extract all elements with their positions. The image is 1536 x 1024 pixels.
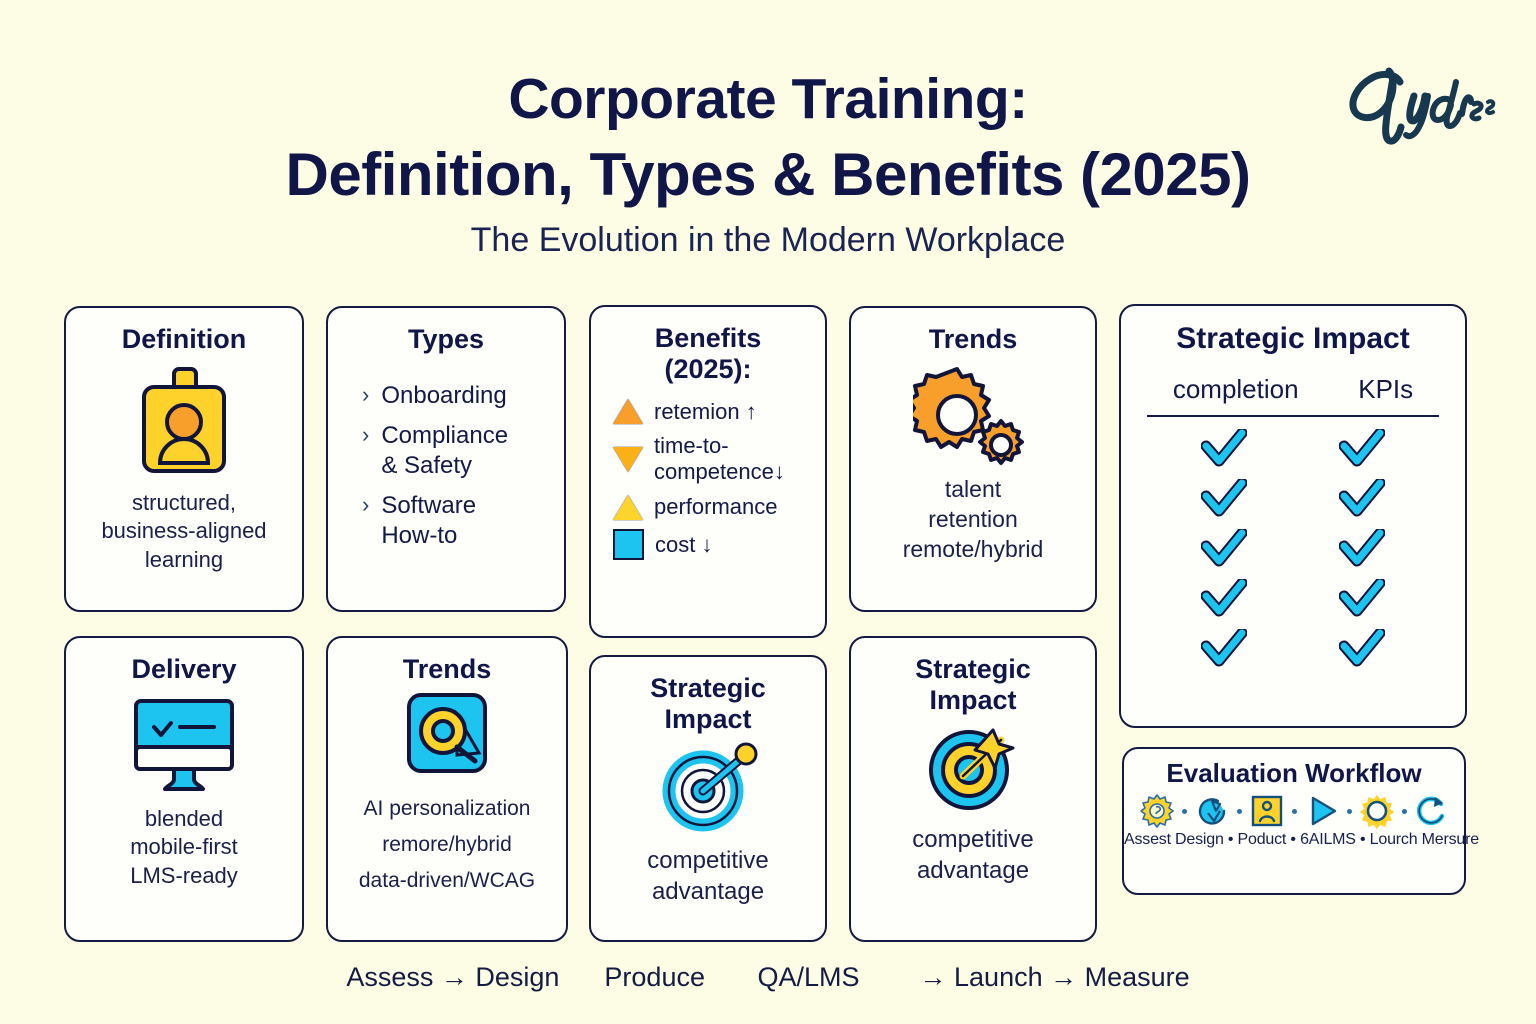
card-trends-bottom-title: Trends — [328, 654, 566, 685]
types-item-label: Compliance & Safety — [381, 421, 508, 481]
types-list: › Onboarding › Compliance & Safety › Sof… — [362, 381, 564, 551]
definition-line-2: business-aligned — [66, 517, 302, 546]
card-strategic-impact-b[interactable]: Strategic Impact competitive advantage — [849, 636, 1097, 942]
table-row[interactable] — [1121, 579, 1465, 619]
title-line-2: Definition, Types & Benefits (2025) — [0, 136, 1536, 214]
triangle-down-orange-icon — [613, 447, 643, 472]
trends-top-line-3: remote/hybrid — [851, 535, 1095, 565]
separator-dot — [1237, 809, 1242, 814]
trends-bottom-line-3: data-driven/WCAG — [328, 863, 566, 899]
delivery-line-2: mobile-first — [66, 833, 302, 862]
table-body — [1121, 429, 1465, 669]
page-subtitle: The Evolution in the Modern Workplace — [0, 221, 1536, 260]
list-item[interactable]: performance — [613, 494, 825, 520]
card-types[interactable]: Types › Onboarding › Compliance & Safety… — [326, 306, 566, 612]
card-benefits[interactable]: Benefits (2025): retemion ↑ time-to- com… — [589, 305, 827, 638]
strategic-table-title: Strategic Impact — [1121, 322, 1465, 356]
chevron-right-icon: › — [362, 381, 369, 409]
impact-b-title-line-1: Strategic — [915, 654, 1031, 684]
chevron-right-icon: › — [362, 491, 369, 519]
card-trends-top-body: talent retention remote/hybrid — [851, 475, 1095, 565]
trends-bottom-line-1: AI personalization — [328, 791, 566, 827]
trends-top-line-2: retention — [851, 505, 1095, 535]
page-title: Corporate Training: Definition, Types & … — [0, 62, 1536, 214]
eval-workflow-title: Evaluation Workflow — [1124, 758, 1464, 789]
eval-workflow-icon-row — [1124, 793, 1464, 829]
table-divider — [1147, 415, 1439, 417]
check-icon — [1339, 579, 1385, 619]
list-item[interactable]: time-to- competence↓ — [613, 433, 825, 485]
trends-top-line-1: talent — [851, 475, 1095, 505]
card-trends-bottom[interactable]: Trends AI personalization remore/hybrid … — [326, 636, 568, 942]
card-delivery[interactable]: Delivery blended mobile-first LMS-ready — [64, 636, 304, 942]
list-item[interactable]: retemion ↑ — [613, 399, 825, 425]
table-header-row: completion KPIs — [1121, 374, 1465, 405]
benefits-item-label: cost ↓ — [655, 532, 712, 558]
impact-a-title-line-1: Strategic — [650, 673, 766, 703]
check-icon — [1201, 479, 1247, 519]
gear-icon — [1139, 793, 1175, 829]
monitor-icon — [66, 695, 302, 795]
impact-b-title: Strategic Impact — [851, 654, 1095, 716]
column-header-kpis: KPIs — [1358, 374, 1413, 405]
search-badge-icon — [328, 693, 566, 779]
card-trends-top[interactable]: Trends talent retention remote/hybrid — [849, 306, 1097, 612]
id-badge-icon — [66, 365, 302, 477]
card-benefits-title: Benefits (2025): — [591, 323, 825, 385]
impact-b-title-line-2: Impact — [929, 685, 1016, 715]
card-definition-body: structured, business-aligned learning — [66, 489, 302, 575]
benefits-title-line-1: Benefits — [655, 323, 762, 353]
card-definition[interactable]: Definition structured, business-aligned … — [64, 306, 304, 612]
benefits-list: retemion ↑ time-to- competence↓ performa… — [613, 399, 825, 561]
table-row[interactable] — [1121, 429, 1465, 469]
play-icon — [1304, 793, 1340, 829]
benefits-item-label: performance — [654, 494, 778, 520]
ring-gear-icon — [1359, 793, 1395, 829]
separator-dot — [1292, 809, 1297, 814]
square-cyan-icon — [613, 529, 644, 560]
types-item-label: Software How-to — [381, 491, 476, 551]
card-delivery-title: Delivery — [66, 654, 302, 685]
separator-dot — [1402, 809, 1407, 814]
list-item[interactable]: › Compliance & Safety — [362, 421, 564, 481]
table-row[interactable] — [1121, 479, 1465, 519]
check-icon — [1339, 429, 1385, 469]
workflow-footer-strip: Assess → Design Produce QA/LMS → Launch … — [0, 962, 1536, 993]
title-line-1: Corporate Training: — [508, 67, 1027, 131]
types-item-label: Onboarding — [381, 381, 506, 411]
check-icon — [1339, 529, 1385, 569]
impact-b-line-1: competitive — [851, 824, 1095, 855]
impact-b-line-2: advantage — [851, 855, 1095, 886]
check-icon — [1339, 629, 1385, 669]
check-icon — [1201, 529, 1247, 569]
table-row[interactable] — [1121, 529, 1465, 569]
triangle-up-orange-icon — [613, 399, 643, 424]
glydrs-logo — [1338, 58, 1508, 148]
check-icon — [1201, 579, 1247, 619]
card-types-title: Types — [328, 324, 564, 355]
list-item[interactable]: › Software How-to — [362, 491, 564, 551]
card-trends-top-title: Trends — [851, 324, 1095, 355]
delivery-line-3: LMS-ready — [66, 862, 302, 891]
refresh-icon — [1414, 793, 1450, 829]
target-arrow-icon — [591, 739, 825, 835]
list-item[interactable]: › Onboarding — [362, 381, 564, 411]
card-definition-title: Definition — [66, 324, 302, 355]
target-dart-icon — [851, 720, 1095, 814]
impact-b-body: competitive advantage — [851, 824, 1095, 886]
list-item[interactable]: cost ↓ — [613, 529, 825, 560]
impact-a-title: Strategic Impact — [591, 673, 825, 735]
definition-line-1: structured, — [66, 489, 302, 518]
impact-a-body: competitive advantage — [591, 845, 825, 907]
person-frame-icon — [1249, 793, 1285, 829]
eval-workflow-labels: Assest Design • Poduct • 6AILMS • Lourch… — [1124, 831, 1464, 849]
triangle-up-yellow-icon — [613, 495, 643, 520]
benefits-item-label: retemion ↑ — [654, 399, 757, 425]
gears-icon — [851, 361, 1095, 469]
delivery-line-1: blended — [66, 805, 302, 834]
check-icon — [1339, 479, 1385, 519]
card-trends-bottom-body: AI personalization remore/hybrid data-dr… — [328, 791, 566, 899]
arrow-loop-icon — [1194, 793, 1230, 829]
benefits-title-line-2: (2025): — [664, 354, 751, 384]
column-header-completion: completion — [1173, 374, 1299, 405]
trends-bottom-line-2: remore/hybrid — [328, 827, 566, 863]
definition-line-3: learning — [66, 546, 302, 575]
card-evaluation-workflow[interactable]: Evaluation Workflow — [1122, 747, 1466, 895]
table-row[interactable] — [1121, 629, 1465, 669]
infographic-canvas: Corporate Training: Definition, Types & … — [0, 0, 1536, 1024]
separator-dot — [1182, 809, 1187, 814]
benefits-item-label: time-to- competence↓ — [654, 433, 785, 485]
workflow-steps-text: Assess → Design Produce QA/LMS → Launch … — [346, 962, 1189, 993]
card-strategic-impact-a[interactable]: Strategic Impact competitive advantage — [589, 655, 827, 942]
check-icon — [1201, 629, 1247, 669]
chevron-right-icon: › — [362, 421, 369, 449]
impact-a-line-1: competitive — [591, 845, 825, 876]
card-delivery-body: blended mobile-first LMS-ready — [66, 805, 302, 891]
card-strategic-impact-table[interactable]: Strategic Impact completion KPIs — [1119, 304, 1467, 728]
impact-a-title-line-2: Impact — [664, 704, 751, 734]
impact-a-line-2: advantage — [591, 876, 825, 907]
separator-dot — [1347, 809, 1352, 814]
check-icon — [1201, 429, 1247, 469]
